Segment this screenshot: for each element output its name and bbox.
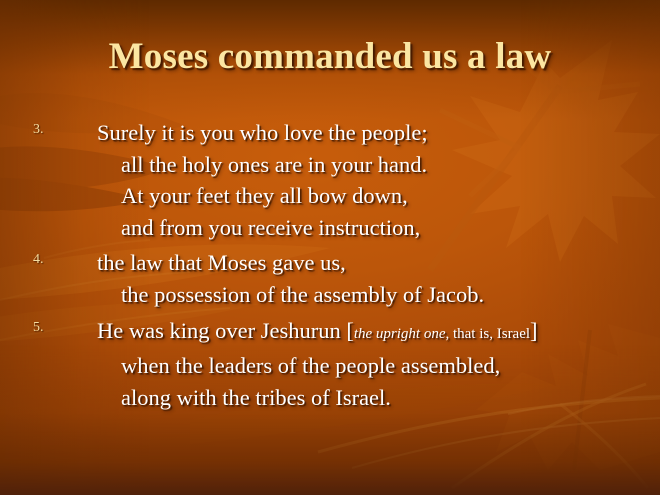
slide-title: Moses commanded us a law [0,36,660,77]
verse-line: all the holy ones are in your hand. [97,149,646,181]
list-item-marker: 5. [33,321,69,335]
verse-line-text: He was king over Jeshurun [ [97,318,354,343]
verse-line: and from you receive instruction, [97,212,646,244]
list-item-lines: the law that Moses gave us, the possessi… [30,247,646,310]
presentation-slide: Moses commanded us a law 3. Surely it is… [0,0,660,495]
verse-line: the law that Moses gave us, [97,247,646,279]
verse-line: along with the tribes of Israel. [97,382,646,414]
list-item: 5. He was king over Jeshurun [the uprigh… [30,315,646,414]
verse-line: At your feet they all bow down, [97,180,646,212]
gloss-italic-text: the upright one [354,326,446,342]
gloss-close-bracket: ] [530,318,538,343]
verse-line: Surely it is you who love the people; [97,117,646,149]
slide-body-list: 3. Surely it is you who love the people;… [30,117,646,417]
list-item-marker: 3. [33,123,69,137]
verse-line-with-gloss: He was king over Jeshurun [the upright o… [97,315,646,351]
list-item: 4. the law that Moses gave us, the posse… [30,247,646,310]
list-item: 3. Surely it is you who love the people;… [30,117,646,243]
verse-line: when the leaders of the people assembled… [97,350,646,382]
verse-line: the possession of the assembly of Jacob. [97,279,646,311]
gloss-roman-text: , that is, Israel [445,326,530,342]
list-item-lines: He was king over Jeshurun [the upright o… [30,315,646,414]
list-item-marker: 4. [33,253,69,267]
list-item-lines: Surely it is you who love the people; al… [30,117,646,243]
editorial-gloss: the upright one, that is, Israel [354,326,530,342]
